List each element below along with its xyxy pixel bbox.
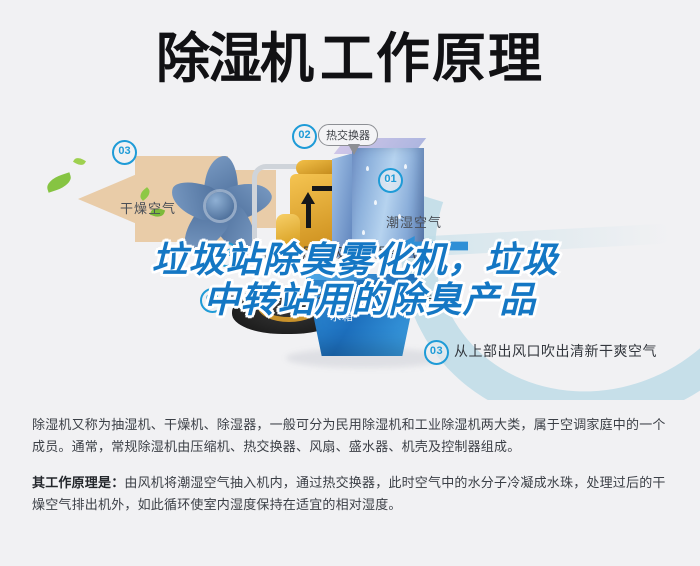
body-paragraph-1: 除湿机又称为抽湿机、干燥机、除湿器，一般可分为民用除湿机和工业除湿机两大类，属于…: [0, 400, 700, 458]
callout-pointer: [348, 144, 360, 155]
step-sentence-02: 02水蒸气通过热交换器冷凝成水珠: [200, 288, 433, 313]
body-paragraph-2: 其工作原理是：由风机将潮湿空气抽入机内，通过热交换器，此时空气中的水分子冷凝成水…: [0, 458, 700, 516]
fan-hub: [206, 192, 234, 220]
flow-arrow-stem: [312, 186, 334, 191]
leaf-icon: [73, 156, 86, 168]
body-paragraph-2-rest: 由风机将潮湿空气抽入机内，通过热交换器，此时空气中的水分子冷凝成水珠，处理过后的…: [32, 475, 666, 512]
page-title-part1: 除湿机: [156, 29, 312, 89]
body-paragraph-2-lead: 其工作原理是：: [32, 475, 124, 490]
step-sentence-badge-01: 01: [214, 242, 239, 267]
step-badge-01: 01: [378, 168, 403, 193]
page-title: 除湿机工作原理: [0, 28, 700, 90]
step-sentence-text-03: 从上部出风口吹出清新干爽空气: [454, 343, 657, 359]
condensation-droplet: [404, 164, 407, 169]
diagram-label-humid-air: 潮湿空气: [386, 212, 442, 231]
page-title-part2: 工作原理: [320, 29, 544, 89]
article-body: 除湿机又称为抽湿机、干燥机、除湿器，一般可分为民用除湿机和工业除湿机两大类，属于…: [0, 400, 700, 566]
callout-heat-exchanger: 热交换器: [318, 124, 378, 146]
step-badge-03: 03: [112, 140, 137, 165]
title-banner: 除湿机工作原理: [0, 0, 700, 112]
product-article-image: 除湿机工作原理: [0, 0, 700, 566]
condensation-droplet: [366, 166, 369, 171]
flow-arrow-stem: [306, 204, 311, 228]
step-sentence-badge-02: 02: [200, 288, 225, 313]
dehumidifier-diagram: 水箱 03 干燥空气 02 热交换器 01 潮湿空气 01从下部进风口吸进潮湿空…: [0, 112, 700, 400]
step-sentence-text-01: 从下部进风口吸进潮湿空气: [244, 245, 418, 261]
condensation-droplet: [362, 230, 365, 235]
diagram-label-dry-air: 干燥空气: [120, 198, 176, 217]
condensation-droplet: [374, 200, 377, 205]
flow-arrow-up-icon: [301, 192, 315, 204]
step-sentence-badge-03: 03: [424, 340, 449, 365]
step-badge-02: 02: [292, 124, 317, 149]
step-sentence-text-02: 水蒸气通过热交换器冷凝成水珠: [230, 291, 433, 307]
step-sentence-03: 03从上部出风口吹出清新干爽空气: [424, 340, 657, 365]
step-sentence-01: 01从下部进风口吸进潮湿空气: [214, 242, 418, 267]
leaf-icon: [45, 172, 74, 192]
